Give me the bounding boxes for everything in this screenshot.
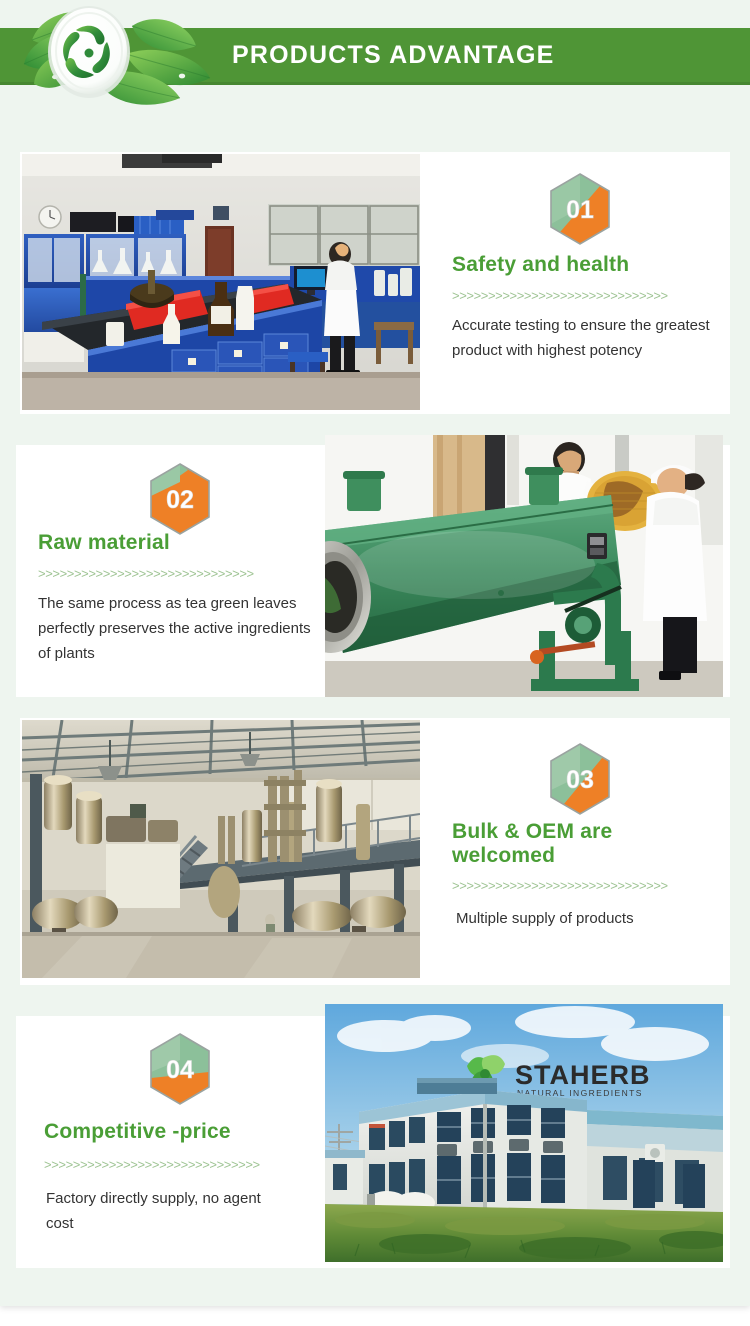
card-divider-3: >>>>>>>>>>>>>>>>>>>>>>>>>>>>>> <box>452 878 710 893</box>
svg-text:01: 01 <box>566 196 594 224</box>
card-description-1: Accurate testing to ensure the greatest … <box>452 313 716 363</box>
leaf-recycle-logo-icon <box>14 2 224 114</box>
card-description-4: Factory directly supply, no agent cost <box>46 1186 286 1236</box>
svg-text:STAHERB: STAHERB <box>515 1060 651 1090</box>
badge-01: 01 <box>548 172 612 246</box>
card-divider-2: >>>>>>>>>>>>>>>>>>>>>>>>>>>>>> <box>38 566 290 581</box>
card-title-1: Safety and health <box>452 253 714 277</box>
badge-04: 04 <box>148 1032 212 1106</box>
card-divider-1: >>>>>>>>>>>>>>>>>>>>>>>>>>>>>> <box>452 288 710 303</box>
factory-interior-photo <box>22 720 420 978</box>
badge-03: 03 <box>548 742 612 816</box>
badge-02: 02 <box>148 462 212 536</box>
card-divider-4: >>>>>>>>>>>>>>>>>>>>>>>>>>>>>> <box>44 1157 292 1172</box>
card-title-2: Raw material <box>38 531 300 555</box>
card-title-3: Bulk & OEM are welcomed <box>452 820 672 868</box>
factory-building-photo: STAHERB NATURAL INGREDIENTS <box>325 1004 723 1262</box>
svg-text:04: 04 <box>166 1056 194 1084</box>
svg-text:02: 02 <box>166 486 194 514</box>
card-description-3: Multiple supply of products <box>456 906 656 931</box>
page-title: PRODUCTS ADVANTAGE <box>232 41 555 70</box>
laboratory-photo <box>22 154 420 410</box>
product-advantage-page: PRODUCTS ADVANTAGE <box>0 0 750 1326</box>
svg-text:03: 03 <box>566 766 594 794</box>
card-title-4: Competitive -price <box>44 1120 306 1144</box>
green-roasting-machine-photo <box>325 435 723 697</box>
card-description-2: The same process as tea green leaves per… <box>38 591 318 666</box>
